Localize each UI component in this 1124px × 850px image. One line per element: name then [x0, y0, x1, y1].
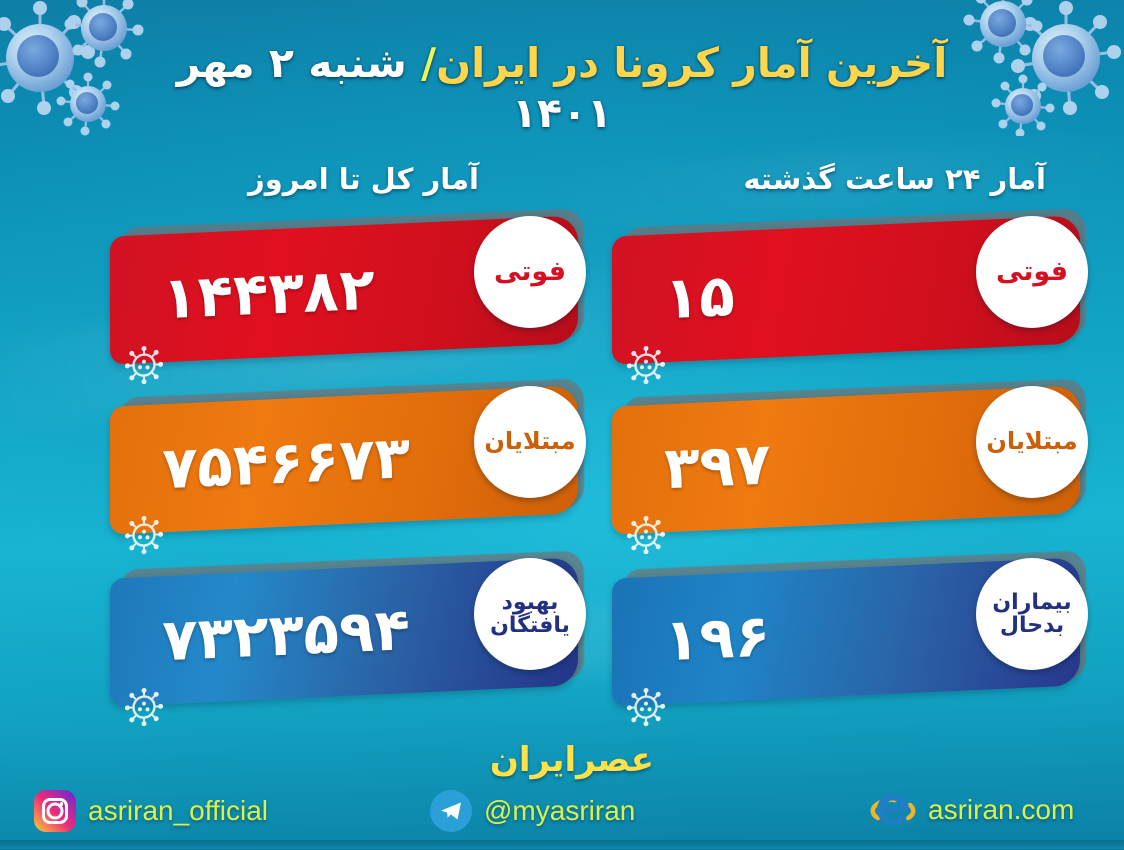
column-header-total: آمار کل تا امروز — [248, 162, 479, 196]
stats-grid: ۱۵ — [0, 206, 1124, 736]
stat-card-infected-total[interactable]: ۷۵۴۶۶۷۳ — [104, 380, 604, 552]
title-separator: / — [421, 39, 436, 87]
column-last24h: ۱۵ — [606, 206, 1106, 736]
internet-explorer-icon — [870, 788, 916, 832]
badge-label-line1: بهبود — [502, 590, 559, 615]
stat-label-badge: مبتلایان — [976, 386, 1088, 498]
badge-label: فوتی — [996, 258, 1068, 287]
stat-label-badge: بیماران بدحال — [976, 558, 1088, 670]
stat-label-badge: بهبود یافتگان — [474, 558, 586, 670]
website-url: asriran.com — [928, 794, 1074, 826]
telegram-icon — [430, 790, 472, 832]
instagram-link[interactable]: asriran_official — [34, 790, 268, 832]
badge-label: مبتلایان — [986, 429, 1077, 454]
stat-card-deaths-24h[interactable]: ۱۵ — [606, 210, 1106, 382]
column-total: ۱۴۴۳۸۲ — [104, 206, 604, 736]
footer: asriran_official @myasriran asriran.com — [0, 774, 1124, 836]
stat-card-deaths-total[interactable]: ۱۴۴۳۸۲ — [104, 210, 604, 382]
badge-label: مبتلایان — [484, 429, 575, 454]
title-main: آخرین آمار کرونا در ایران — [436, 39, 947, 87]
telegram-link[interactable]: @myasriran — [430, 790, 635, 832]
bottom-bar — [0, 840, 1124, 850]
instagram-icon — [34, 790, 76, 832]
stat-card-recovered-total[interactable]: ۷۳۲۳۵۹۴ — [104, 552, 604, 724]
mini-virus-icon — [626, 686, 666, 732]
stat-card-critical-24h[interactable]: ۱۹۶ — [606, 552, 1106, 724]
telegram-handle: @myasriran — [484, 795, 635, 827]
infographic-canvas: آخرین آمار کرونا در ایران/ شنبه ۲ مهر ۱۴… — [0, 0, 1124, 850]
mini-virus-icon — [124, 686, 164, 732]
website-link[interactable]: asriran.com — [870, 788, 1074, 832]
badge-label-line1: بیماران — [992, 590, 1071, 615]
column-header-last24h: آمار ۲۴ ساعت گذشته — [743, 162, 1046, 196]
stat-label-badge: مبتلایان — [474, 386, 586, 498]
page-title: آخرین آمار کرونا در ایران/ شنبه ۲ مهر ۱۴… — [0, 38, 1124, 138]
badge-label-line2: بدحال — [1000, 613, 1064, 638]
stat-label-badge: فوتی — [976, 216, 1088, 328]
instagram-handle: asriran_official — [88, 795, 268, 827]
badge-label: فوتی — [494, 258, 566, 287]
stat-card-infected-24h[interactable]: ۳۹۷ — [606, 380, 1106, 552]
stat-label-badge: فوتی — [474, 216, 586, 328]
badge-label-line2: یافتگان — [490, 613, 570, 638]
